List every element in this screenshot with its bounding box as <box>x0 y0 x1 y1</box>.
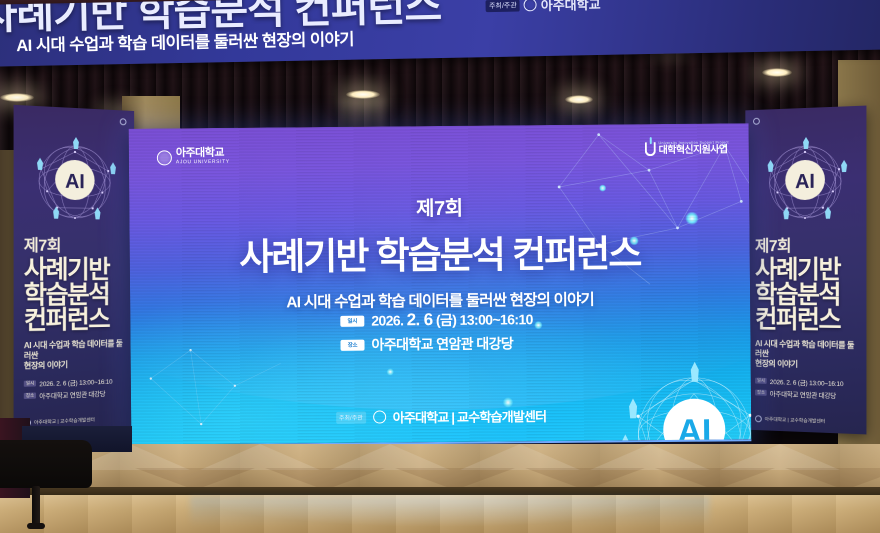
grand-piano <box>0 440 92 488</box>
place-label: 장소 <box>755 389 767 396</box>
banner-top-logo <box>753 118 760 125</box>
stage-front-panels <box>0 444 880 490</box>
date-monthday: 2. 6 <box>407 310 433 329</box>
host-label: 주최/주관 <box>336 411 366 423</box>
screen-title: 사례기반 학습분석 컨퍼런스 <box>129 222 749 281</box>
banner-footer-name: 아주대학교 | 교수학습개발센터 <box>34 416 95 426</box>
overhead-banner-host: 주최/주관 아주대학교 <box>486 0 601 15</box>
vertical-banner-left: AI 제7회 사례기반 학습분석 컨퍼런스 AI 시대 수업과 학습 데이터를 … <box>14 105 135 435</box>
banner-footer-logo: 아주대학교 | 교수학습개발센터 <box>24 416 95 426</box>
host-label: 주최/주관 <box>486 0 520 12</box>
subtitle-line-2: 현장의 이야기 <box>24 359 127 372</box>
auditorium-stage-photo: 사례기반 학습분석 컨퍼런스 AI 시대 수업과 학습 데이터를 둘러싼 현장의… <box>0 0 880 533</box>
place-value: 아주대학교 연암관 대강당 <box>39 388 105 401</box>
screen-meta: 일시 2026. 2. 6 (금) 13:00~16:10 장소 아주대학교 연… <box>340 309 533 359</box>
ceiling-light <box>0 93 34 102</box>
university-seal-icon <box>753 118 760 125</box>
title-line-2: 학습분석 <box>755 283 858 309</box>
banner-meta: 일시 2026. 2. 6 (금) 13:00~16:10 장소 아주대학교 연… <box>755 376 858 401</box>
title-line-3: 컨퍼런스 <box>24 307 127 334</box>
subtitle-line-2: 현장의 이야기 <box>755 359 858 371</box>
floor-gloss <box>0 495 880 533</box>
edition-label: 제7회 <box>24 231 127 256</box>
banner-text-block: 제7회 사례기반 학습분석 컨퍼런스 AI 시대 수업과 학습 데이터를 둘러싼… <box>24 231 127 403</box>
title-line-2: 학습분석 <box>24 283 127 309</box>
place-value: 아주대학교 연암관 대강당 <box>371 333 513 354</box>
svg-text:AI: AI <box>795 171 815 194</box>
host-name: 아주대학교 <box>541 0 601 14</box>
date-label: 일시 <box>340 315 364 326</box>
title-line-3: 컨퍼런스 <box>755 308 858 334</box>
university-seal-icon <box>755 415 762 422</box>
ai-network-graphic: AI <box>23 128 126 235</box>
u-mark-icon <box>645 142 656 156</box>
banner-meta: 일시 2026. 2. 6 (금) 13:00~16:10 장소 아주대학교 연… <box>24 375 127 401</box>
banner-footer-name: 아주대학교 | 교수학습개발센터 <box>765 416 826 425</box>
ceiling-light <box>346 90 380 99</box>
program-logo-ko: 대학혁신지원사업 <box>659 146 729 157</box>
date-value: 2026. 2. 6 (금) 13:00~16:10 <box>371 309 533 330</box>
banner-text-block: 제7회 사례기반 학습분석 컨퍼런스 AI 시대 수업과 학습 데이터를 둘러싼… <box>755 232 858 403</box>
title-line-1: 사례기반 <box>755 258 858 283</box>
subtitle-line-1: AI 시대 수업과 학습 데이터를 둘러싼 <box>755 339 858 361</box>
banner-footer-logo: 아주대학교 | 교수학습개발센터 <box>755 415 825 425</box>
edition-label: 제7회 <box>755 232 858 257</box>
date-label: 일시 <box>755 377 767 384</box>
svg-text:AI: AI <box>65 171 85 193</box>
screen-logo-ko: 아주대학교 <box>176 148 230 159</box>
screen-program-logo: University Innovation Support Project 대학… <box>645 140 729 156</box>
overhead-banner-subtitle: AI 시대 수업과 학습 데이터를 둘러싼 현장의 이야기 <box>16 26 354 56</box>
place-value: 아주대학교 연암관 대강당 <box>770 388 836 400</box>
screen-edition: 제7회 <box>129 189 749 223</box>
ai-network-graphic: AI <box>754 128 857 234</box>
university-seal-icon <box>157 150 172 165</box>
date-year: 2026. <box>371 312 403 328</box>
date-value: 2026. 2. 6 (금) 13:00~16:10 <box>770 376 843 388</box>
banner-top-logo <box>120 118 127 125</box>
vertical-banner-right: AI 제7회 사례기반 학습분석 컨퍼런스 AI 시대 수업과 학습 데이터를 … <box>745 106 866 435</box>
screen-title-block: 제7회 사례기반 학습분석 컨퍼런스 AI 시대 수업과 학습 데이터를 둘러싼… <box>129 189 750 313</box>
date-value: 2026. 2. 6 (금) 13:00~16:10 <box>39 376 112 389</box>
university-seal-icon <box>373 410 386 423</box>
screen-university-logo: 아주대학교 AJOU UNIVERSITY <box>157 148 230 167</box>
title-line-1: 사례기반 <box>24 258 127 283</box>
place-label: 장소 <box>340 339 364 350</box>
date-label: 일시 <box>24 380 36 387</box>
led-screen: 아주대학교 AJOU UNIVERSITY University Innovat… <box>129 123 752 446</box>
place-label: 장소 <box>24 392 36 399</box>
host-name: 아주대학교 | 교수학습개발센터 <box>393 406 547 426</box>
date-time: (금) 13:00~16:10 <box>436 311 533 328</box>
ceiling-light <box>762 68 792 77</box>
piano-foot <box>27 523 45 529</box>
ceiling-light <box>565 95 593 104</box>
screen-logo-en: AJOU UNIVERSITY <box>176 159 230 167</box>
university-seal-icon <box>524 0 537 11</box>
university-seal-icon <box>120 118 127 125</box>
piano-leg <box>32 486 40 526</box>
